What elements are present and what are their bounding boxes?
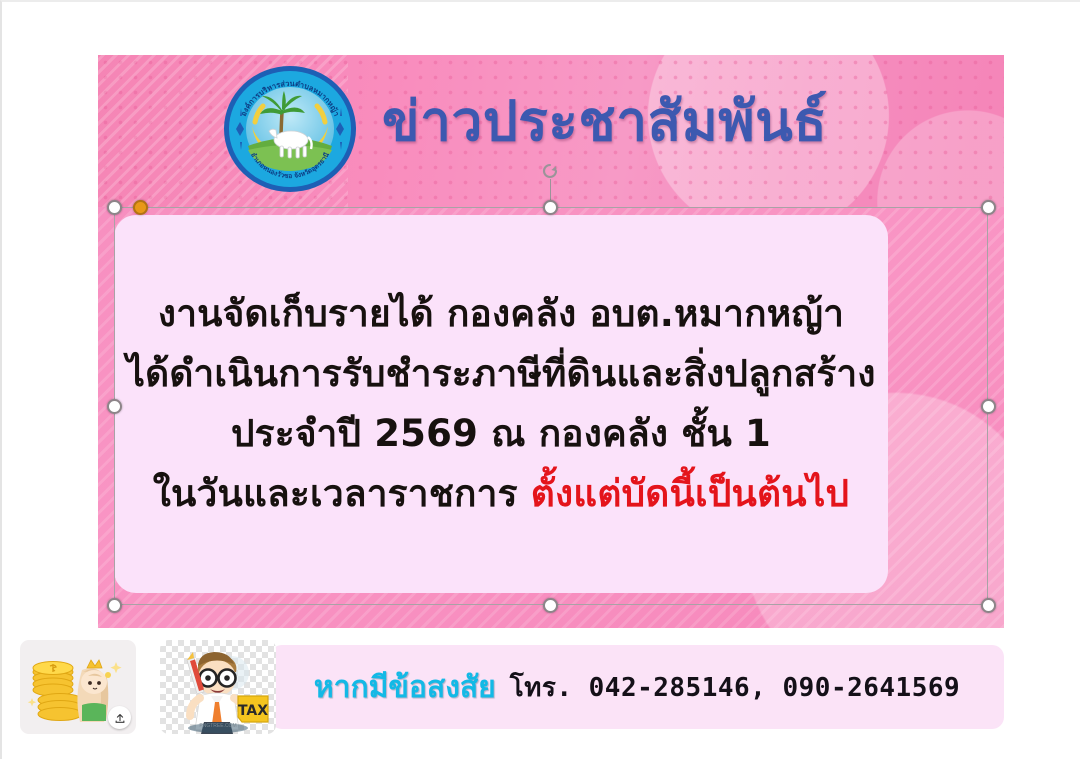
rotate-icon[interactable]	[539, 160, 561, 182]
resize-handle-top-left[interactable]	[107, 200, 122, 215]
tax-man-sticker[interactable]: TAX PNGTREE.COM	[160, 640, 276, 734]
upload-icon[interactable]	[108, 706, 131, 729]
organization-seal-logo: องค์การบริหารส่วนตำบลหมากหญ้า อำเภอหนองว…	[222, 64, 358, 194]
seal-icon: องค์การบริหารส่วนตำบลหมากหญ้า อำเภอหนองว…	[222, 64, 358, 194]
announcement-line-4: ในวันและเวลาราชการ ตั้งแต่บัดนี้เป็นต้นไ…	[153, 464, 849, 524]
contact-telephone: โทร. 042-285146, 090-2641569	[510, 667, 960, 708]
resize-handle-top-center[interactable]	[543, 200, 558, 215]
announcement-line-2: ได้ดำเนินการรับชำระภาษีที่ดินและสิ่งปลูก…	[126, 344, 875, 404]
resize-handle-middle-left[interactable]	[107, 399, 122, 414]
sticker-watermark: PNGTREE.COM	[199, 723, 236, 729]
announcement-textbox[interactable]: งานจัดเก็บรายได้ กองคลัง อบต.หมากหญ้า ได…	[114, 215, 888, 593]
resize-handle-middle-right[interactable]	[981, 399, 996, 414]
resize-handle-bottom-left[interactable]	[107, 598, 122, 613]
powerpoint-slide-canvas: องค์การบริหารส่วนตำบลหมากหญ้า อำเภอหนองว…	[0, 0, 1080, 759]
corner-radius-adjust-handle[interactable]	[133, 200, 148, 215]
upload-arrow-icon	[114, 712, 126, 724]
svg-text:TAX: TAX	[238, 703, 268, 719]
resize-handle-top-right[interactable]	[981, 200, 996, 215]
contact-bar: หากมีข้อสงสัย โทร. 042-285146, 090-26415…	[270, 645, 1004, 729]
resize-handle-bottom-right[interactable]	[981, 598, 996, 613]
announcement-line-4-red: ตั้งแต่บัดนี้เป็นต้นไป	[531, 472, 849, 515]
resize-handle-bottom-center[interactable]	[543, 598, 558, 613]
announcement-line-4-black: ในวันและเวลาราชการ	[153, 472, 518, 515]
announcement-line-3: ประจำปี 2569 ณ กองคลัง ชั้น 1	[231, 404, 771, 464]
poster-title: ข่าวประชาสัมพันธ์	[382, 86, 882, 156]
gold-coins-girl-sticker[interactable]	[20, 640, 136, 734]
contact-question-label: หากมีข้อสงสัย	[314, 664, 496, 711]
tax-man-illustration: TAX	[160, 640, 276, 734]
announcement-line-1: งานจัดเก็บรายได้ กองคลัง อบต.หมากหญ้า	[158, 284, 844, 344]
